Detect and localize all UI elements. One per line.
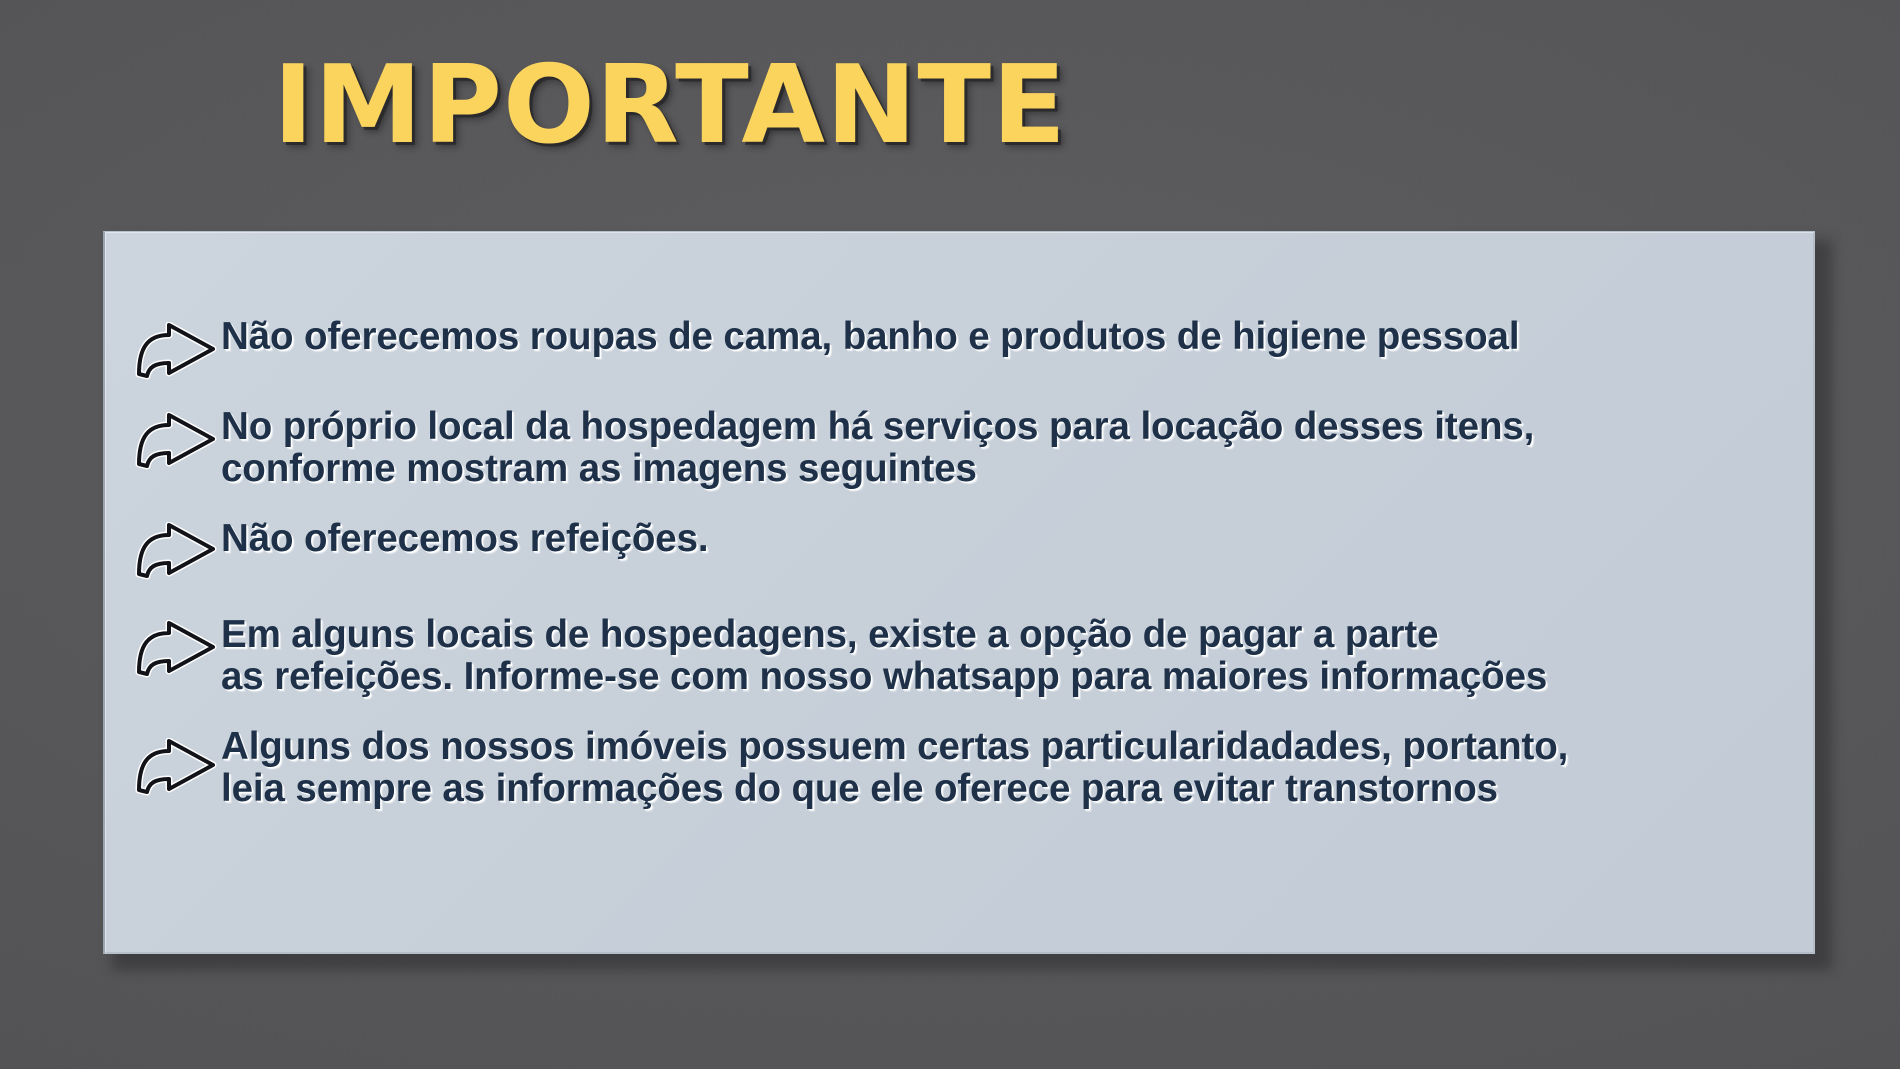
slide-title-container: IMPORTANTE	[0, 52, 1340, 160]
slide-canvas: IMPORTANTE Não oferecemos roupas de cama…	[0, 0, 1900, 1069]
curved-right-arrow-icon	[135, 738, 217, 796]
curved-right-arrow-icon	[135, 412, 217, 470]
content-panel: Não oferecemos roupas de cama, banho e p…	[103, 231, 1815, 954]
list-item-label: Não oferecemos roupas de cama, banho e p…	[221, 316, 1799, 358]
page-title: IMPORTANTE	[273, 52, 1067, 160]
curved-right-arrow-icon	[135, 522, 217, 580]
bullet-list: Não oferecemos roupas de cama, banho e p…	[129, 316, 1799, 809]
list-item: Não oferecemos roupas de cama, banho e p…	[129, 316, 1799, 380]
list-item-label: Alguns dos nossos imóveis possuem certas…	[221, 726, 1799, 809]
list-item: Alguns dos nossos imóveis possuem certas…	[129, 726, 1799, 809]
list-item: No próprio local da hospedagem há serviç…	[129, 406, 1799, 489]
list-item-label: No próprio local da hospedagem há serviç…	[221, 406, 1799, 489]
list-item-label: Não oferecemos refeições.	[221, 518, 1799, 560]
list-item: Em alguns locais de hospedagens, existe …	[129, 614, 1799, 697]
curved-right-arrow-icon	[135, 322, 217, 380]
curved-right-arrow-icon	[135, 620, 217, 678]
list-item: Não oferecemos refeições.	[129, 518, 1799, 580]
list-item-label: Em alguns locais de hospedagens, existe …	[221, 614, 1799, 697]
